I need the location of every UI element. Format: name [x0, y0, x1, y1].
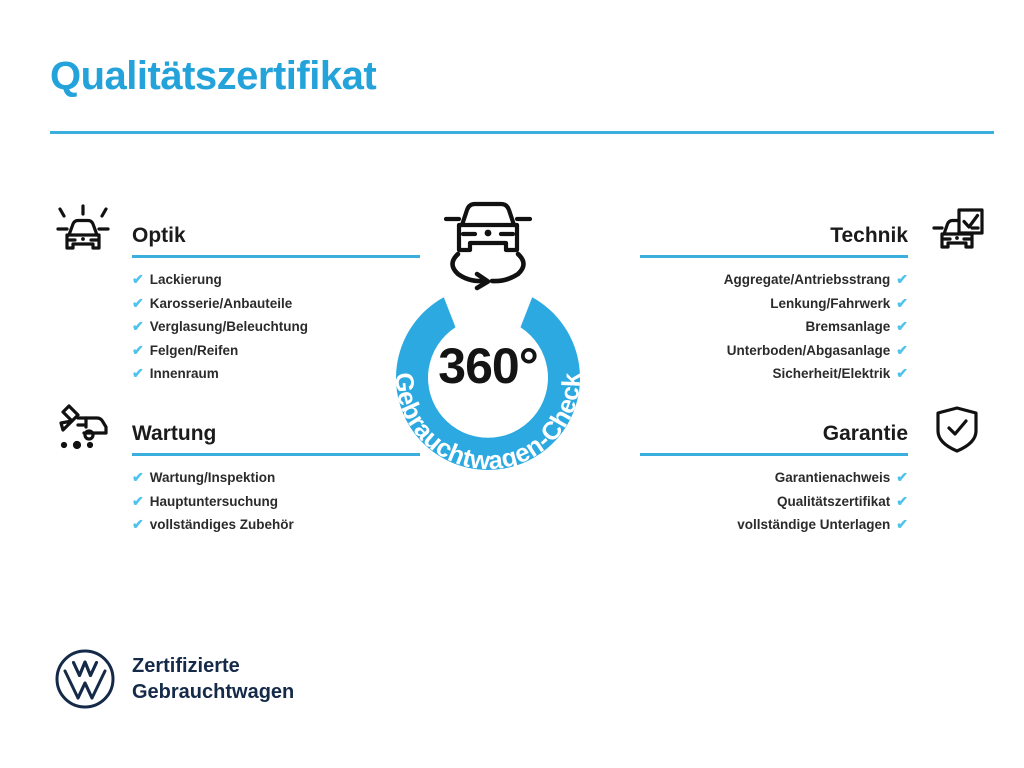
check-icon: ✔ — [896, 513, 908, 537]
check-icon: ✔ — [132, 339, 144, 363]
check-icon: ✔ — [896, 339, 908, 363]
check-icon: ✔ — [132, 513, 144, 537]
certificate-page: Qualitätszertifikat Optik ✔Lackieru — [0, 0, 1024, 768]
check-icon: ✔ — [896, 490, 908, 514]
list-item-label: Lenkung/Fahrwerk — [770, 296, 890, 311]
checklist-garantie: Garantienachweis✔ Qualitätszertifikat✔ v… — [600, 466, 1000, 537]
check-icon: ✔ — [132, 466, 144, 490]
list-item-label: Karosserie/Anbauteile — [150, 296, 293, 311]
list-item: Aggregate/Antriebsstrang✔ — [600, 268, 908, 292]
section-title-technik: Technik — [830, 224, 908, 248]
badge-center-label: 360° — [372, 337, 604, 395]
section-title-wartung: Wartung — [132, 422, 216, 446]
list-item-label: Garantienachweis — [775, 470, 891, 485]
checklist-technik: Aggregate/Antriebsstrang✔ Lenkung/Fahrwe… — [600, 268, 1000, 386]
check-icon: ✔ — [132, 362, 144, 386]
check-icon: ✔ — [896, 315, 908, 339]
list-item: Unterboden/Abgasanlage✔ — [600, 339, 908, 363]
list-item-label: Wartung/Inspektion — [150, 470, 276, 485]
list-item: Lenkung/Fahrwerk✔ — [600, 292, 908, 316]
page-title: Qualitätszertifikat — [50, 54, 376, 99]
list-item-label: Bremsanlage — [805, 319, 890, 334]
gebrauchtwagen-check-badge: Gebrauchtwagen-Check 360° — [372, 192, 604, 484]
list-item: ✔Hauptuntersuchung — [132, 490, 440, 514]
section-garantie: Garantie Garantienachweis✔ Qualitätszert… — [600, 398, 1000, 537]
list-item-label: vollständiges Zubehör — [150, 517, 294, 532]
list-item-label: Lackierung — [150, 272, 222, 287]
list-item-label: Qualitätszertifikat — [777, 494, 890, 509]
section-title-optik: Optik — [132, 224, 186, 248]
section-title-garantie: Garantie — [823, 422, 908, 446]
title-divider — [50, 131, 994, 134]
list-item: vollständige Unterlagen✔ — [600, 513, 908, 537]
list-item: Garantienachweis✔ — [600, 466, 908, 490]
list-item-label: Unterboden/Abgasanlage — [727, 343, 891, 358]
list-item-label: Felgen/Reifen — [150, 343, 239, 358]
check-icon: ✔ — [132, 490, 144, 514]
section-technik: Technik Aggregate/Antriebsstrang✔ Lenkun… — [600, 200, 1000, 386]
check-icon: ✔ — [132, 292, 144, 316]
list-item-label: Aggregate/Antriebsstrang — [724, 272, 891, 287]
check-icon: ✔ — [896, 466, 908, 490]
check-icon: ✔ — [896, 362, 908, 386]
check-icon: ✔ — [132, 268, 144, 292]
check-icon: ✔ — [132, 315, 144, 339]
footer-logo-block: Zertifizierte Gebrauchtwagen — [54, 648, 294, 710]
footer-line-2: Gebrauchtwagen — [132, 679, 294, 705]
list-item-label: Verglasung/Beleuchtung — [150, 319, 308, 334]
list-item: Bremsanlage✔ — [600, 315, 908, 339]
section-divider-technik — [640, 255, 908, 258]
footer-line-1: Zertifizierte — [132, 653, 294, 679]
check-icon: ✔ — [896, 268, 908, 292]
footer-logo-text: Zertifizierte Gebrauchtwagen — [132, 653, 294, 705]
list-item-label: Innenraum — [150, 366, 219, 381]
check-icon: ✔ — [896, 292, 908, 316]
list-item: Sicherheit/Elektrik✔ — [600, 362, 908, 386]
list-item: Qualitätszertifikat✔ — [600, 490, 908, 514]
list-item-label: Hauptuntersuchung — [150, 494, 278, 509]
list-item: ✔vollständiges Zubehör — [132, 513, 440, 537]
list-item-label: Sicherheit/Elektrik — [772, 366, 890, 381]
volkswagen-logo-icon — [54, 648, 116, 710]
section-divider-garantie — [640, 453, 908, 456]
list-item-label: vollständige Unterlagen — [737, 517, 890, 532]
